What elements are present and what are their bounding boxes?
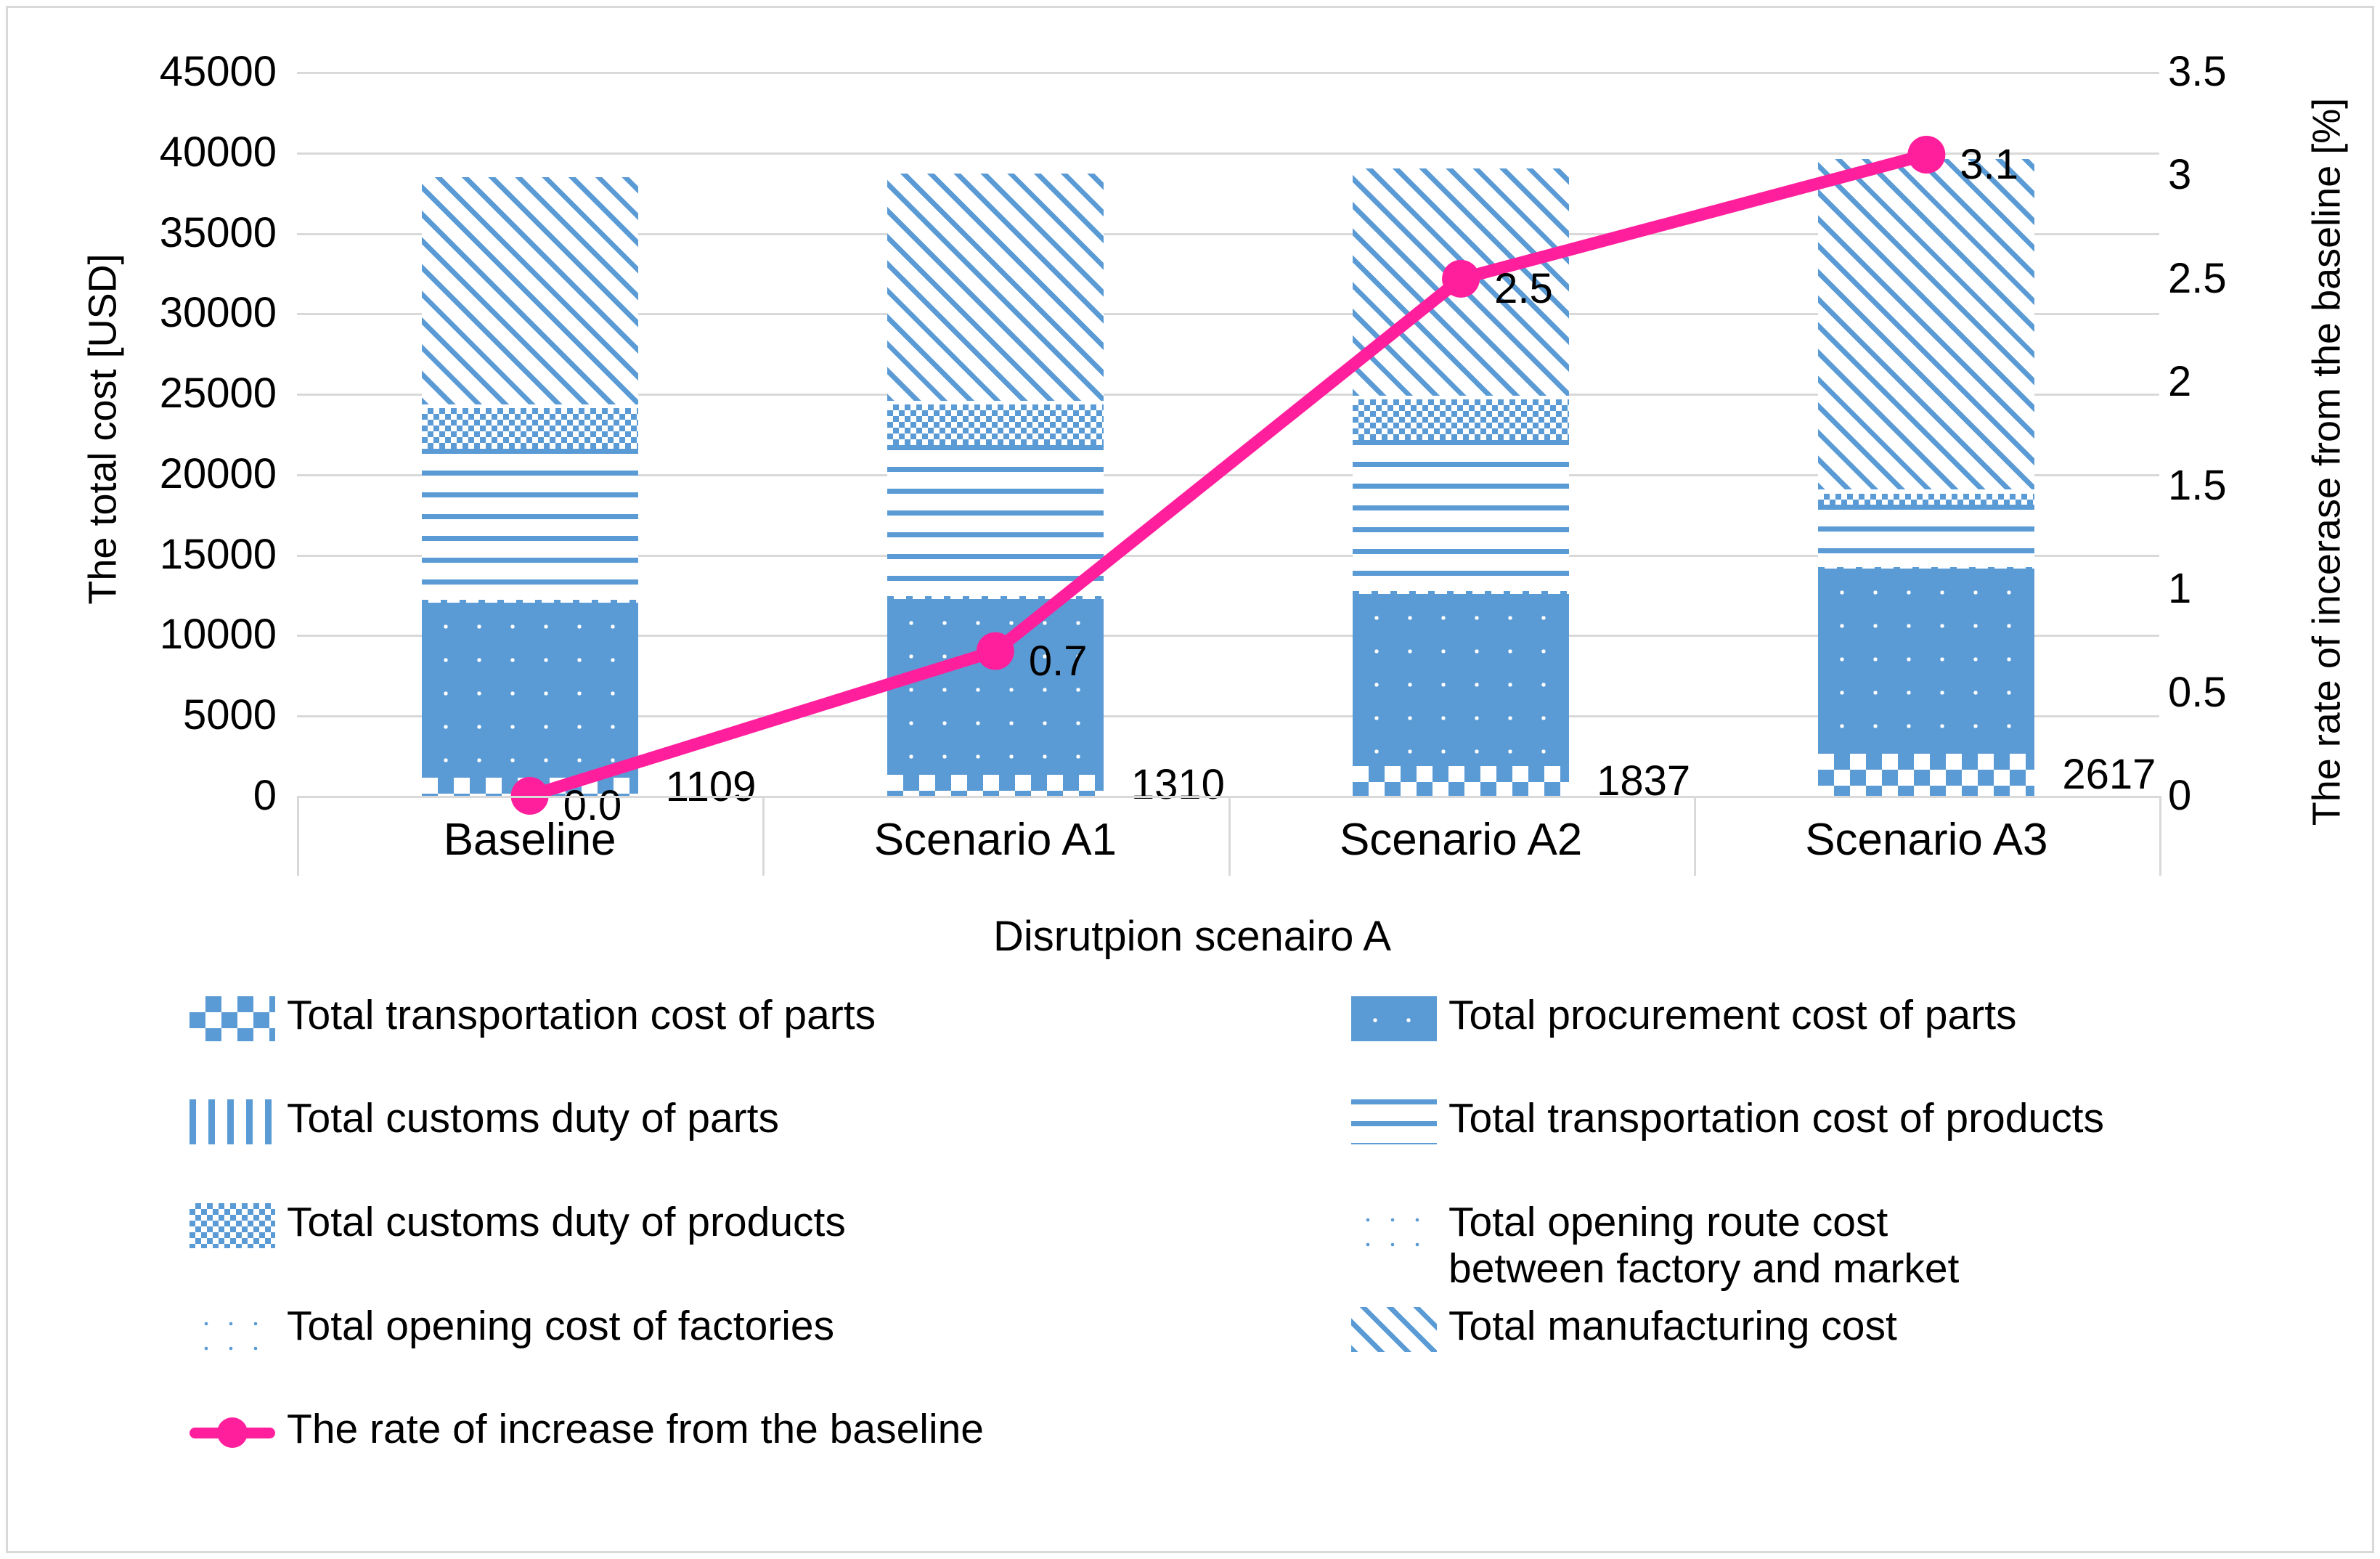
rate-line-path — [530, 155, 1927, 796]
legend-item-label: Total customs duty of parts — [287, 1095, 779, 1141]
y-axis-left-tick: 25000 — [37, 373, 277, 415]
x-axis-tick — [1228, 796, 1231, 876]
chart-frame: The total cost [USD] The rate of inceras… — [6, 6, 2374, 1553]
rate-line-marker[interactable] — [977, 632, 1014, 670]
x-axis-category-label: Scenario A2 — [1243, 814, 1679, 866]
legend-item-label: The rate of increase from the baseline — [287, 1406, 984, 1452]
y-axis-right-tick: 0 — [2168, 775, 2313, 817]
legend-item-label: Total opening route cost between factory… — [1448, 1199, 1959, 1293]
x-axis-category-label: Baseline — [312, 814, 748, 866]
legend-item[interactable]: Total procurement cost of parts — [1351, 992, 2017, 1041]
legend-item-label: Total transportation cost of parts — [287, 992, 876, 1038]
legend-item[interactable]: Total opening route cost between factory… — [1351, 1199, 1959, 1293]
legend-swatch-vlines-icon — [189, 1099, 275, 1144]
legend-item-label: Total customs duty of products — [287, 1199, 846, 1245]
x-axis-tick — [2159, 796, 2161, 876]
legend-item[interactable]: Total opening cost of factories — [189, 1303, 834, 1352]
legend-item[interactable]: Total customs duty of parts — [189, 1095, 779, 1144]
legend-swatch-line-icon — [189, 1410, 275, 1455]
rate-line-label: 3.1 — [1960, 144, 2018, 186]
y-axis-right-tick: 2.5 — [2168, 258, 2313, 300]
y-axis-left-tick: 30000 — [37, 292, 277, 334]
legend-item-label: Total procurement cost of parts — [1448, 992, 2017, 1038]
x-axis-tick — [762, 796, 765, 876]
legend-item[interactable]: Total transportation cost of products — [1351, 1095, 2104, 1144]
legend-item[interactable]: Total customs duty of products — [189, 1199, 846, 1248]
legend-swatch-sparse-icon — [1351, 1203, 1437, 1248]
legend-swatch-checker-icon — [189, 996, 275, 1041]
x-axis-category-label: Scenario A3 — [1708, 814, 2144, 866]
legend-swatch-hlines-icon — [1351, 1099, 1437, 1144]
y-axis-left-tick: 5000 — [37, 694, 277, 736]
y-axis-right-tick: 3.5 — [2168, 51, 2313, 93]
legend-item[interactable]: Total manufacturing cost — [1351, 1303, 1897, 1352]
y-axis-left-tick: 35000 — [37, 212, 277, 254]
legend-item-label: Total manufacturing cost — [1448, 1303, 1897, 1349]
y-axis-left-ticks: 4500040000350003000025000200001500010000… — [8, 72, 277, 796]
rate-line-marker[interactable] — [1907, 136, 1945, 174]
y-axis-right-tick: 2 — [2168, 361, 2313, 403]
legend-swatch-sparse-icon — [189, 1307, 275, 1352]
legend-swatch-diag-icon — [1351, 1307, 1437, 1352]
x-axis-tick — [1694, 796, 1696, 876]
legend-swatch-smallchecker-icon — [189, 1203, 275, 1248]
y-axis-right-tick: 0.5 — [2168, 672, 2313, 714]
legend-item-label: Total opening cost of factories — [287, 1303, 834, 1349]
x-axis-tick — [297, 796, 299, 876]
y-axis-left-tick: 40000 — [37, 131, 277, 174]
y-axis-right-tick: 3 — [2168, 154, 2313, 196]
legend-item[interactable]: The rate of increase from the baseline — [189, 1406, 984, 1455]
legend-line-marker — [217, 1417, 248, 1448]
legend-item[interactable]: Total transportation cost of parts — [189, 992, 876, 1041]
y-axis-left-tick: 15000 — [37, 534, 277, 576]
legend-swatch-dots-icon — [1351, 996, 1437, 1041]
y-axis-right-tick: 1 — [2168, 568, 2313, 610]
rate-line-label: 0.7 — [1029, 640, 1088, 683]
x-axis-title: Disrutpion scenairo A — [8, 912, 2376, 961]
rate-line-marker[interactable] — [1442, 260, 1480, 298]
y-axis-left-tick: 20000 — [37, 453, 277, 495]
y-axis-left-tick: 0 — [37, 775, 277, 817]
x-axis-category-label: Scenario A1 — [778, 814, 1213, 866]
rate-line-series — [297, 72, 2159, 796]
y-axis-right-tick: 1.5 — [2168, 465, 2313, 507]
legend-item-label: Total transportation cost of products — [1448, 1095, 2104, 1141]
rate-line-label: 2.5 — [1494, 268, 1553, 310]
y-axis-right-ticks: 3.532.521.510.50 — [2168, 72, 2380, 796]
chart-page: The total cost [USD] The rate of inceras… — [0, 0, 2380, 1559]
y-axis-left-tick: 45000 — [37, 51, 277, 93]
y-axis-left-tick: 10000 — [37, 614, 277, 656]
